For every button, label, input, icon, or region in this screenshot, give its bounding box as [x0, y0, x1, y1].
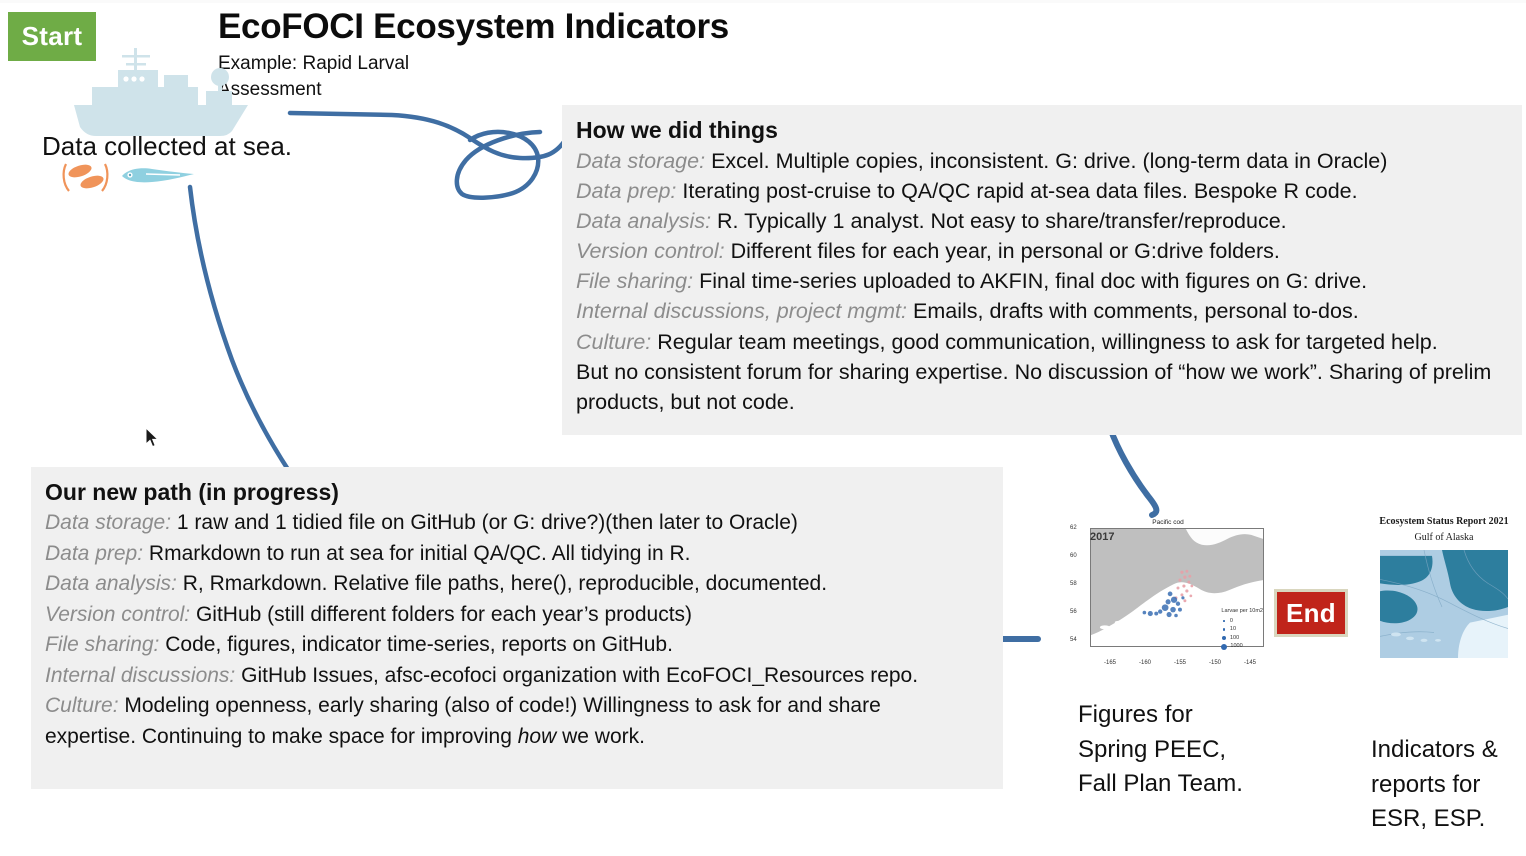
how-panel-row: Internal discussions, project mgmt: Emai…: [576, 296, 1508, 326]
y-tick: 58: [1070, 581, 1077, 587]
row-label: Version control:: [45, 603, 190, 626]
row-label: Version control:: [576, 239, 725, 263]
y-tick: 56: [1070, 609, 1077, 615]
row-label: Data analysis:: [45, 572, 177, 595]
row-text: Rmarkdown to run at sea for initial QA/Q…: [149, 542, 691, 565]
esr-title-line1: Ecosystem Status Report 2021: [1368, 516, 1520, 527]
row-text: Different files for each year, in person…: [731, 239, 1280, 263]
legend-row: 10: [1221, 625, 1263, 634]
row-label: Data storage:: [576, 149, 705, 173]
x-tick: -165: [1104, 660, 1116, 666]
research-ship-icon: [72, 43, 252, 138]
ink-stroke-loop: [457, 132, 540, 198]
how-panel-row: File sharing: Final time-series uploaded…: [576, 266, 1508, 296]
path-panel-row: Data prep: Rmarkdown to run at sea for i…: [45, 539, 989, 570]
slide-canvas: Start EcoFOCI Ecosystem Indicators Examp…: [0, 0, 1526, 856]
path-panel-row: File sharing: Code, figures, indicator t…: [45, 630, 989, 661]
how-panel-row: Culture: Regular team meetings, good com…: [576, 327, 1508, 357]
x-tick: -150: [1209, 660, 1221, 666]
row-label: Culture:: [576, 330, 651, 354]
figures-caption: Figures for Spring PEEC, Fall Plan Team.: [1078, 698, 1248, 802]
row-text: 1 raw and 1 tidied file on GitHub (or G:…: [177, 511, 798, 534]
legend-row: 1000: [1221, 642, 1263, 651]
end-button[interactable]: End: [1274, 589, 1348, 637]
wrap-suffix: we work.: [556, 725, 645, 748]
legend-dot: [1223, 628, 1226, 631]
legend-title: Larvae per 10m2: [1221, 607, 1263, 616]
legend-row: 0: [1221, 617, 1263, 626]
path-panel-row: Culture: Modeling openness, early sharin…: [45, 691, 989, 722]
our-new-path-panel: Our new path (in progress) Data storage:…: [31, 467, 1003, 789]
path-panel-row: Version control: GitHub (still different…: [45, 600, 989, 631]
legend-dot: [1222, 636, 1226, 640]
esr-cover-map: [1380, 550, 1508, 658]
x-tick: -160: [1139, 660, 1151, 666]
legend-value: 1000: [1230, 642, 1242, 651]
mouse-cursor-icon: [145, 427, 160, 449]
ecosystem-status-report-cover[interactable]: Ecosystem Status Report 2021 Gulf of Ala…: [1368, 512, 1520, 664]
path-panel-row: Data analysis: R, Rmarkdown. Relative fi…: [45, 569, 989, 600]
row-text: Code, figures, indicator time-series, re…: [165, 633, 673, 656]
path-panel-row: Internal discussions: GitHub Issues, afs…: [45, 661, 989, 692]
how-panel-row: Version control: Different files for eac…: [576, 236, 1508, 266]
legend-dot: [1221, 644, 1227, 650]
row-label: Data prep:: [576, 179, 676, 203]
how-panel-row: Data storage: Excel. Multiple copies, in…: [576, 146, 1508, 176]
row-text: GitHub Issues, afsc-ecofoci organization…: [241, 664, 918, 687]
row-text: Excel. Multiple copies, inconsistent. G:…: [711, 149, 1387, 173]
map-year-label: 2017: [1090, 531, 1114, 543]
how-panel-title: How we did things: [576, 117, 1508, 144]
egg-and-larva-icon: [58, 160, 198, 194]
x-tick: -155: [1174, 660, 1186, 666]
top-hairline: [0, 0, 1526, 3]
row-label: Internal discussions, project mgmt:: [576, 299, 907, 323]
how-we-did-things-panel: How we did things Data storage: Excel. M…: [562, 105, 1522, 435]
wrap-prefix: expertise. Continuing to make space for …: [45, 725, 518, 748]
row-text: Emails, drafts with comments, personal t…: [913, 299, 1359, 323]
ink-stroke-how-to-map: [1110, 428, 1156, 515]
pacific-cod-larvae-map[interactable]: Pacific cod: [1068, 519, 1268, 669]
row-label: Culture:: [45, 694, 119, 717]
legend-value: 100: [1230, 634, 1239, 643]
row-label: Data analysis:: [576, 209, 711, 233]
x-tick: -145: [1244, 660, 1256, 666]
row-label: Data storage:: [45, 511, 171, 534]
path-panel-row: Data storage: 1 raw and 1 tidied file on…: [45, 508, 989, 539]
row-text: Regular team meetings, good communicatio…: [657, 330, 1437, 354]
esr-title-line2: Gulf of Alaska: [1368, 532, 1520, 543]
ink-stroke-sea-to-newpath: [190, 187, 318, 512]
page-title: EcoFOCI Ecosystem Indicators: [218, 8, 858, 47]
indicators-caption: Indicators & reports for ESR, ESP.: [1371, 733, 1526, 837]
row-label: File sharing:: [576, 269, 693, 293]
how-panel-row: Data analysis: R. Typically 1 analyst. N…: [576, 206, 1508, 236]
row-text: Iterating post-cruise to QA/QC rapid at-…: [682, 179, 1357, 203]
row-label: File sharing:: [45, 633, 159, 656]
row-label: Data prep:: [45, 542, 143, 565]
ink-stroke-ship-to-how: [290, 113, 566, 158]
row-text: GitHub (still different folders for each…: [196, 603, 692, 626]
y-tick: 62: [1070, 525, 1077, 531]
legend-row: 100: [1221, 634, 1263, 643]
how-panel-wrap-text: But no consistent forum for sharing expe…: [576, 357, 1508, 417]
y-tick: 54: [1070, 637, 1077, 643]
how-panel-row: Data prep: Iterating post-cruise to QA/Q…: [576, 176, 1508, 206]
row-text: R. Typically 1 analyst. Not easy to shar…: [717, 209, 1287, 233]
row-label: Internal discussions:: [45, 664, 235, 687]
sea-caption: Data collected at sea.: [42, 131, 292, 162]
row-text: Final time-series uploaded to AKFIN, fin…: [699, 269, 1367, 293]
path-panel-wrap-text: expertise. Continuing to make space for …: [45, 722, 989, 753]
title-block: EcoFOCI Ecosystem Indicators Example: Ra…: [218, 8, 858, 104]
legend-value: 10: [1230, 625, 1236, 634]
wrap-italic-word: how: [518, 725, 557, 748]
row-text: Modeling openness, early sharing (also o…: [124, 694, 880, 717]
map-legend: Larvae per 10m2 0 10 100 1000: [1221, 607, 1263, 651]
path-panel-title: Our new path (in progress): [45, 479, 989, 506]
legend-value: 0: [1230, 617, 1233, 626]
row-text: R, Rmarkdown. Relative file paths, here(…: [183, 572, 827, 595]
legend-dot: [1223, 620, 1225, 622]
map-title: Pacific cod: [1068, 519, 1268, 526]
y-tick: 60: [1070, 553, 1077, 559]
